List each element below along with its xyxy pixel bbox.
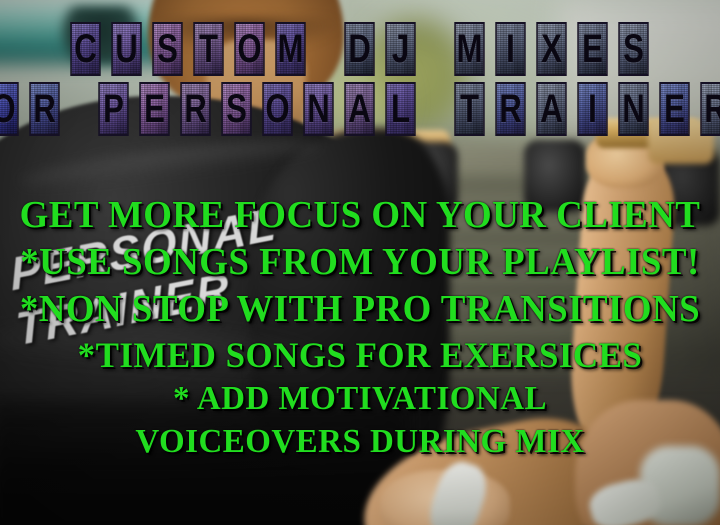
title-letter-tile: M xyxy=(454,22,484,76)
title-letter-tile: O xyxy=(0,82,18,136)
title-letter-tile: R xyxy=(495,82,525,136)
title-word-dj: DJ xyxy=(340,22,422,76)
copy-line-1: GET MORE FOCUS ON YOUR CLIENT xyxy=(11,196,709,234)
title-letter-tile: O xyxy=(234,22,264,76)
title-letter-tile: I xyxy=(577,82,607,136)
title-letter-glyph: J xyxy=(391,29,408,69)
title-letter-glyph: D xyxy=(348,29,371,69)
title-letter-tile: T xyxy=(193,22,223,76)
title-letter-tile: X xyxy=(536,22,566,76)
title-letter-glyph: M xyxy=(277,29,303,69)
title-letter-tile: R xyxy=(29,82,59,136)
title-letter-tile: T xyxy=(454,82,484,136)
title-letter-tile: R xyxy=(700,82,720,136)
promo-copy-block: GET MORE FOCUS ON YOUR CLIENT *USE SONGS… xyxy=(0,196,720,468)
title-letter-glyph: A xyxy=(348,89,371,129)
title-word-custom: CUSTOM xyxy=(66,22,312,76)
title-word-for: FOR xyxy=(0,82,66,136)
title-letter-glyph: M xyxy=(456,29,482,69)
title-word-trainers: TRAINERS xyxy=(450,82,720,136)
title-letter-tile: S xyxy=(152,22,182,76)
promo-poster: PERSONAL TRAINER CUSTOMDJMIXES FORPERSON… xyxy=(0,0,720,525)
title-letter-glyph: N xyxy=(622,89,645,129)
title-letter-tile: M xyxy=(275,22,305,76)
title-letter-tile: C xyxy=(70,22,100,76)
title-letter-glyph: U xyxy=(115,29,138,69)
title-letter-tile: U xyxy=(111,22,141,76)
title-letter-glyph: N xyxy=(307,89,330,129)
title-letter-glyph: S xyxy=(157,29,178,69)
title-letter-glyph: C xyxy=(74,29,97,69)
title-letter-glyph: I xyxy=(506,29,515,69)
title-letter-glyph: S xyxy=(623,29,644,69)
title-letter-tile: P xyxy=(98,82,128,136)
poster-title: CUSTOMDJMIXES FORPERSONALTRAINERS xyxy=(0,22,720,136)
title-letter-tile: A xyxy=(536,82,566,136)
copy-line-6: VOICEOVERS DURING MIX xyxy=(11,425,709,459)
title-letter-glyph: X xyxy=(541,29,562,69)
title-letter-glyph: E xyxy=(582,29,603,69)
title-letter-tile: A xyxy=(344,82,374,136)
title-letter-glyph: O xyxy=(265,89,289,129)
title-letter-glyph: E xyxy=(144,89,165,129)
title-letter-glyph: R xyxy=(499,89,522,129)
title-line-2: FORPERSONALTRAINERS xyxy=(0,82,720,136)
copy-line-4: *TIMED SONGS FOR EXERSICES xyxy=(11,337,709,373)
title-letter-tile: N xyxy=(618,82,648,136)
title-letter-glyph: R xyxy=(184,89,207,129)
title-letter-glyph: I xyxy=(588,89,597,129)
copy-line-5: * ADD MOTIVATIONAL xyxy=(11,382,709,416)
title-letter-glyph: R xyxy=(33,89,56,129)
title-letter-tile: I xyxy=(495,22,525,76)
title-letter-tile: O xyxy=(262,82,292,136)
title-letter-tile: E xyxy=(577,22,607,76)
copy-line-2: *USE SONGS FROM YOUR PLAYLIST! xyxy=(11,243,709,281)
title-letter-tile: S xyxy=(618,22,648,76)
title-letter-glyph: R xyxy=(704,89,720,129)
title-letter-tile: R xyxy=(180,82,210,136)
title-letter-tile: S xyxy=(221,82,251,136)
title-letter-glyph: O xyxy=(0,89,15,129)
title-letter-glyph: P xyxy=(103,89,124,129)
title-letter-glyph: E xyxy=(664,89,685,129)
title-letter-tile: L xyxy=(385,82,415,136)
title-word-personal: PERSONAL xyxy=(94,82,422,136)
title-word-mixes: MIXES xyxy=(450,22,655,76)
title-letter-glyph: T xyxy=(198,29,217,69)
title-letter-glyph: T xyxy=(459,89,478,129)
copy-line-3: *NON STOP WITH PRO TRANSITIONS xyxy=(11,290,709,328)
title-letter-glyph: L xyxy=(390,89,409,129)
title-letter-tile: J xyxy=(385,22,415,76)
title-letter-tile: E xyxy=(659,82,689,136)
title-line-1: CUSTOMDJMIXES xyxy=(66,22,655,76)
title-letter-tile: N xyxy=(303,82,333,136)
title-letter-glyph: O xyxy=(237,29,261,69)
title-letter-tile: E xyxy=(139,82,169,136)
title-letter-glyph: S xyxy=(226,89,247,129)
title-letter-glyph: A xyxy=(540,89,563,129)
title-letter-tile: D xyxy=(344,22,374,76)
